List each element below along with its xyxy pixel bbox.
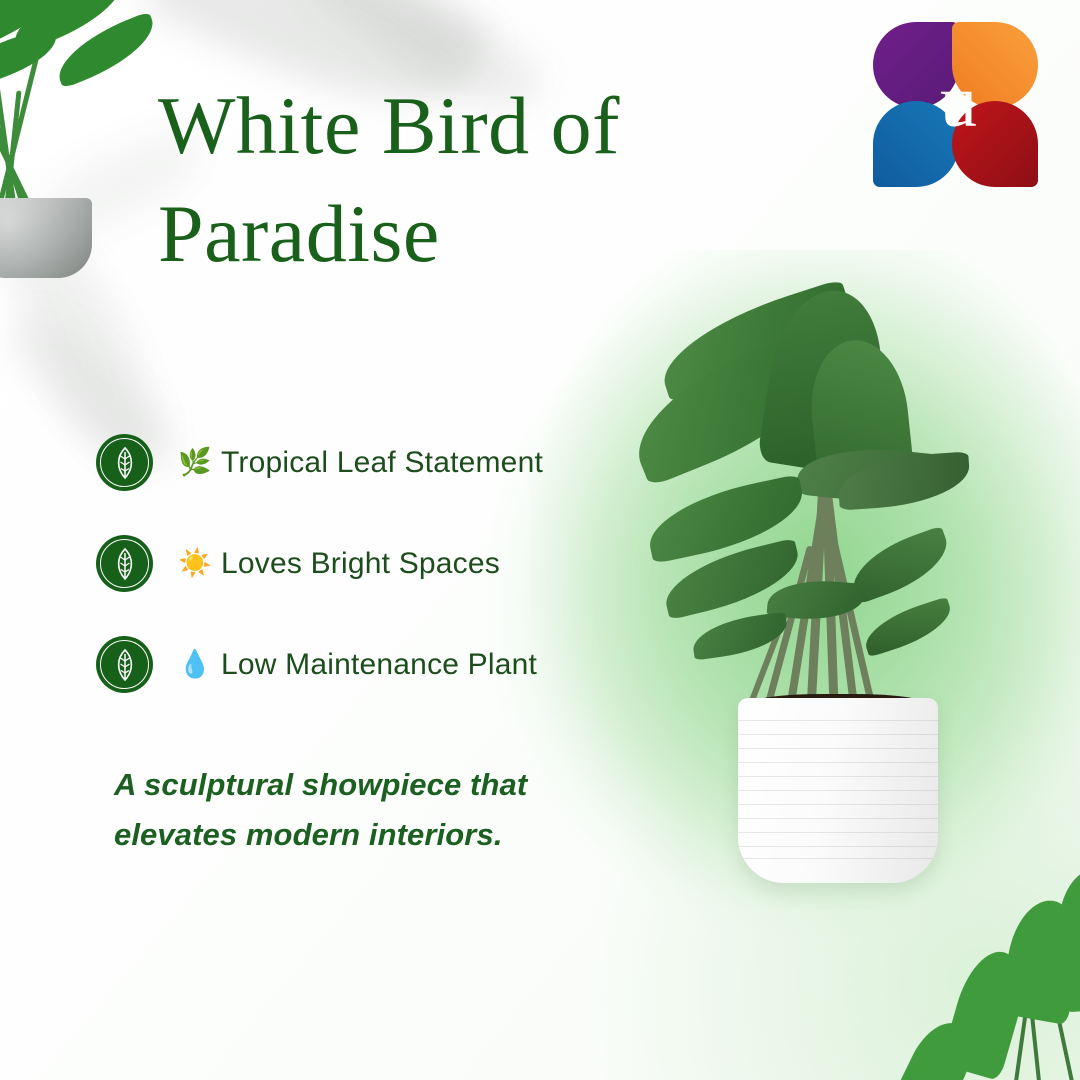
page-title-line-1: White Bird of [158, 72, 758, 180]
plant-pot [738, 698, 938, 883]
feature-label: Low Maintenance Plant [221, 648, 537, 682]
feature-list: 🌿 Tropical Leaf Statement ☀️ Loves Brigh… [96, 412, 656, 715]
leaf-icon [96, 636, 153, 693]
tagline: A sculptural showpiece that elevates mod… [114, 760, 554, 860]
pot-ribs [738, 698, 938, 883]
grey-concrete-pot [0, 198, 92, 278]
brand-logo[interactable]: u [873, 22, 1038, 187]
feature-item[interactable]: 💧 Low Maintenance Plant [96, 614, 656, 715]
sun-emoji: ☀️ [175, 550, 215, 577]
herb-emoji: 🌿 [175, 449, 215, 476]
droplet-emoji: 💧 [175, 651, 215, 678]
feature-item[interactable]: ☀️ Loves Bright Spaces [96, 513, 656, 614]
feature-label: Tropical Leaf Statement [221, 446, 543, 480]
leaf-icon [96, 535, 153, 592]
hero-plant [600, 280, 1040, 920]
feature-item[interactable]: 🌿 Tropical Leaf Statement [96, 412, 656, 513]
logo-monogram: u [873, 22, 1038, 187]
plant-product-poster: u White Bird of Paradise [0, 0, 1080, 1080]
feature-label: Loves Bright Spaces [221, 547, 500, 581]
leaf-icon [96, 434, 153, 491]
